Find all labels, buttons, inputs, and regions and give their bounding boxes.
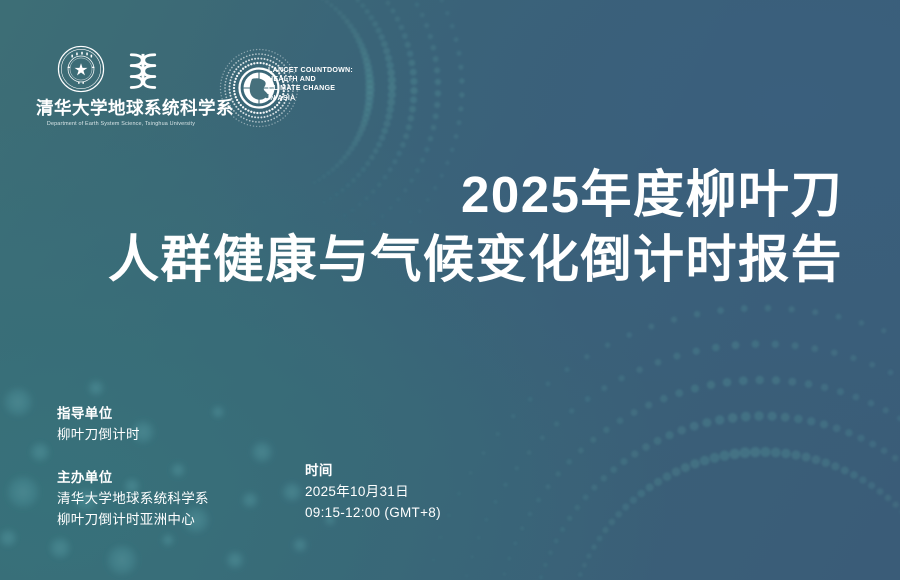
guidance-unit-line-1: 柳叶刀倒计时 — [57, 425, 209, 446]
organizer-unit-line-2: 柳叶刀倒计时亚洲中心 — [57, 510, 209, 531]
title-line-2: 人群健康与气候变化倒计时报告 — [108, 227, 843, 292]
lancet-text-line-1: LANCET COUNTDOWN: — [268, 66, 353, 75]
guidance-unit-group: 指导单位 柳叶刀倒计时 — [57, 404, 209, 446]
lancet-text-line-3: CLIMATE CHANGE — [268, 84, 353, 93]
event-date: 2025年10月31日 — [305, 482, 441, 503]
lancet-text-line-4: IN ASIA — [268, 94, 353, 103]
organizer-unit-heading: 主办单位 — [57, 468, 209, 489]
lancet-logo-text: LANCET COUNTDOWN: HEALTH AND CLIMATE CHA… — [268, 66, 353, 103]
lancet-text-line-2: HEALTH AND — [268, 75, 353, 84]
event-time-heading: 时间 — [305, 461, 441, 482]
organizer-unit-group: 主办单位 清华大学地球系统科学系 柳叶刀倒计时亚洲中心 — [57, 468, 209, 531]
tsinghua-earth-system-emblem-icon — [122, 48, 164, 90]
tsinghua-name-cn: 清华大学地球系统科学系 — [36, 99, 206, 118]
poster-title: 2025年度柳叶刀 人群健康与气候变化倒计时报告 — [108, 162, 843, 293]
tsinghua-name-en: Department of Earth System Science, Tsin… — [36, 121, 206, 127]
poster-canvas: 清华大学地球系统科学系 Department of Earth System S… — [0, 0, 900, 580]
guidance-unit-heading: 指导单位 — [57, 404, 209, 425]
event-time-range: 09:15-12:00 (GMT+8) — [305, 503, 441, 524]
tsinghua-seal-icon — [57, 45, 105, 93]
tsinghua-logo: 清华大学地球系统科学系 Department of Earth System S… — [36, 44, 206, 127]
tsinghua-logo-marks — [36, 44, 206, 94]
event-time-block: 时间 2025年10月31日 09:15-12:00 (GMT+8) — [305, 461, 441, 524]
lancet-countdown-logo: LANCET COUNTDOWN: HEALTH AND CLIMATE CHA… — [215, 46, 360, 130]
organizer-info-block: 指导单位 柳叶刀倒计时 主办单位 清华大学地球系统科学系 柳叶刀倒计时亚洲中心 — [57, 404, 209, 531]
bottom-dot-arcs-group — [423, 305, 900, 580]
organizer-unit-line-1: 清华大学地球系统科学系 — [57, 489, 209, 510]
title-line-1: 2025年度柳叶刀 — [108, 162, 843, 227]
